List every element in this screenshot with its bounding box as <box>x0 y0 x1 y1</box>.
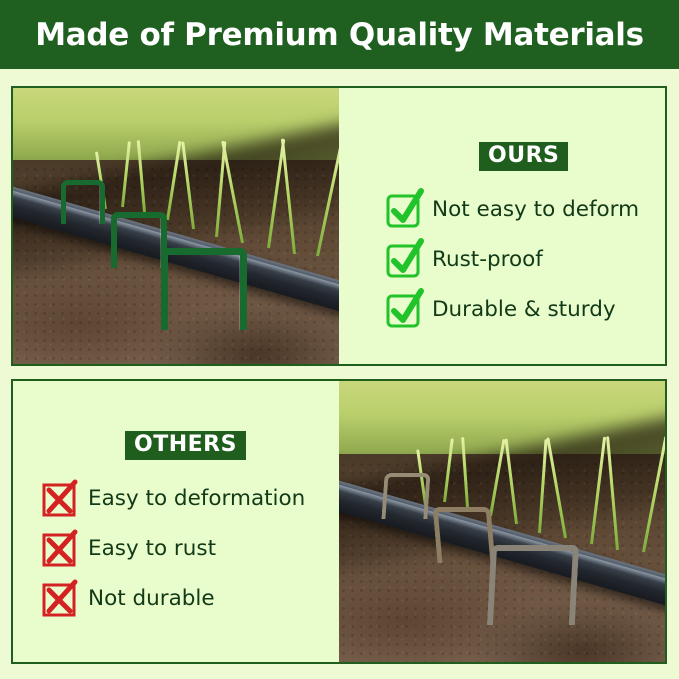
list-item: Not durable <box>43 573 305 623</box>
feature-label: Easy to deformation <box>88 486 305 511</box>
badge-others: OTHERS <box>125 431 246 460</box>
garden-staple <box>381 473 430 519</box>
comparison-panel-ours: OURS Not easy to deform R <box>11 86 667 366</box>
garden-staple <box>161 248 247 330</box>
garden-staple <box>487 545 579 625</box>
feature-label: Not easy to deform <box>432 197 639 222</box>
feature-label: Durable & sturdy <box>432 297 616 322</box>
cross-icon <box>43 532 75 564</box>
garden-staple <box>433 507 496 563</box>
cross-icon <box>43 582 75 614</box>
photo-scene <box>13 88 339 364</box>
cross-icon <box>43 482 75 514</box>
others-content: OTHERS Easy to deformation <box>13 381 339 662</box>
ours-content: OURS Not easy to deform R <box>339 88 665 364</box>
feature-list-others: Easy to deformation Easy to rust <box>43 473 305 623</box>
list-item: Rust-proof <box>387 234 639 284</box>
list-item: Durable & sturdy <box>387 284 639 334</box>
list-item: Not easy to deform <box>387 184 639 234</box>
header-banner: Made of Premium Quality Materials <box>0 0 679 69</box>
list-item: Easy to rust <box>43 523 305 573</box>
photo-scene <box>339 381 665 662</box>
badge-ours: OURS <box>479 142 568 171</box>
check-icon <box>387 293 419 325</box>
garden-staple <box>111 212 167 268</box>
check-icon <box>387 243 419 275</box>
list-item: Easy to deformation <box>43 473 305 523</box>
garden-staple <box>61 180 105 224</box>
page-title: Made of Premium Quality Materials <box>35 17 644 53</box>
feature-label: Rust-proof <box>432 247 543 272</box>
feature-list-ours: Not easy to deform Rust-proof <box>387 184 639 334</box>
feature-label: Easy to rust <box>88 536 216 561</box>
rusty-bent-garden-staples-over-drip-hose-photo <box>339 381 665 662</box>
comparison-panel-others: OTHERS Easy to deformation <box>11 379 667 664</box>
check-icon <box>387 193 419 225</box>
feature-label: Not durable <box>88 586 215 611</box>
green-coated-garden-staples-over-drip-hose-photo <box>13 88 339 364</box>
